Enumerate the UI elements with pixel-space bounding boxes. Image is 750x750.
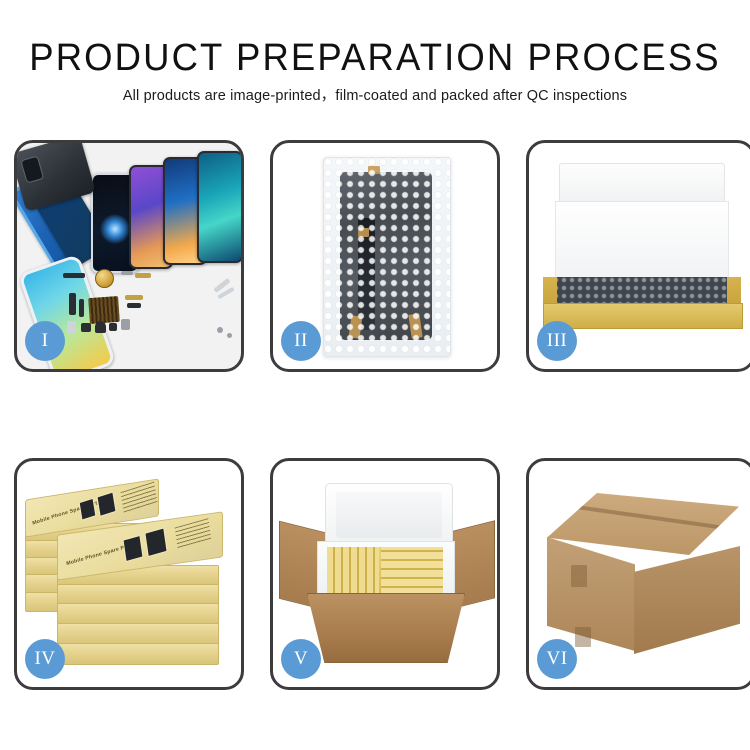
carton-tab-graphic [571,565,587,587]
part-flex-graphic [79,299,84,317]
process-step-1: I [14,140,244,372]
foam-sheet-graphic [555,201,729,281]
part-small-graphic [67,321,76,333]
part-flex-graphic [69,293,76,315]
tape-graphic [368,166,380,174]
header: PRODUCT PREPARATION PROCESS All products… [0,36,750,105]
part-strip-graphic [135,273,151,278]
part-small-graphic [109,323,117,331]
stacked-box [57,603,219,625]
part-strip-graphic [63,273,85,278]
chip-array-graphic [88,296,120,324]
process-step-6: VI [526,458,750,690]
box-phone-graphic [96,491,116,517]
part-small-graphic [121,319,130,330]
camera-lens-graphic [20,156,44,184]
carton-seam-graphic [547,493,739,555]
stacked-box [57,643,219,665]
box-phone-graphic [122,535,143,562]
page-subtitle: All products are image-printed，film-coat… [0,87,750,105]
process-step-3: III [526,140,750,372]
step-badge: II [281,321,321,361]
process-step-2: II [270,140,500,372]
process-step-5: V [270,458,500,690]
part-small-graphic [81,323,91,332]
box-phone-graphic [144,527,167,557]
part-flex-graphic [125,295,143,300]
stacked-box [57,623,219,645]
foam-lid-graphic [325,483,453,547]
part-flex-graphic [127,303,141,308]
box-text-lines [120,482,157,514]
step-badge: IV [25,639,65,679]
phone-teal-graphic [197,151,241,263]
stacked-box [57,584,219,605]
process-step-4: Mobile Phone Spare Parts Mobile Phone Sp… [14,458,244,690]
carton-left-face-graphic [547,537,635,651]
screw-graphic [227,333,232,338]
part-strip-graphic [121,271,133,275]
tape-graphic [358,228,369,237]
page-title: PRODUCT PREPARATION PROCESS [15,36,735,80]
carton-body-graphic [307,593,465,663]
part-small-graphic [95,321,106,333]
gold-component-graphic [95,269,114,288]
screen-burst-graphic [100,214,130,244]
tray-front-graphic [543,303,743,329]
step-badge: I [25,321,65,361]
product-preparation-infographic: PRODUCT PREPARATION PROCESS All products… [0,0,750,750]
box-phone-graphic [79,498,97,521]
step-badge: VI [537,639,577,679]
bubble-bag-graphic [323,157,451,357]
process-step-grid: I II [14,140,736,690]
step-badge: III [537,321,577,361]
step-badge: V [281,639,321,679]
screw-graphic [217,327,223,333]
carton-tab-graphic [575,627,591,647]
box-text-lines [175,518,212,549]
carton-right-face-graphic [634,546,740,654]
foam-lid-inner-graphic [336,492,442,538]
packed-boxes-graphic [327,547,443,595]
